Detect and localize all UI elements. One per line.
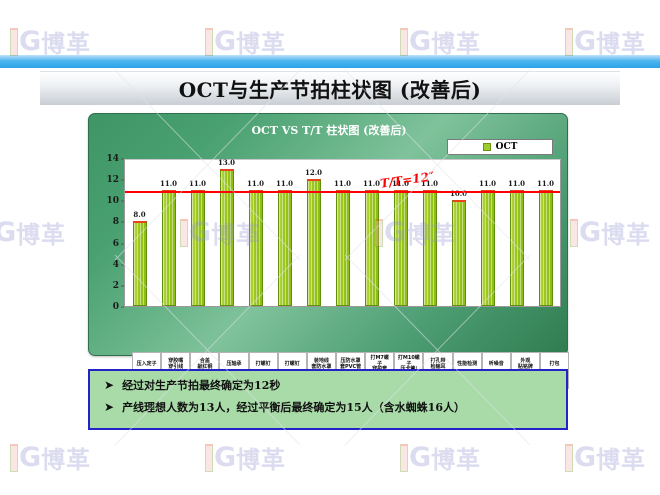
bar-value-label: 11.0: [189, 179, 206, 188]
bar[interactable]: [365, 190, 379, 306]
watermark-logo: G 博革: [10, 440, 91, 475]
bar-value-label: 8.0: [133, 210, 145, 219]
slide-title-bar: OCT与生产节拍柱状图 (改善后): [40, 71, 620, 105]
bar-value-label: 11.0: [160, 179, 177, 188]
brand-mark-icon: G: [10, 444, 36, 472]
legend-swatch-icon: [483, 143, 491, 151]
bar-value-label: 11.0: [363, 179, 380, 188]
bar-slot[interactable]: 11.0: [183, 160, 212, 306]
brand-mark-icon: G: [570, 219, 596, 247]
bullet-arrow-icon: ➤: [104, 378, 114, 393]
header-background: [0, 0, 660, 55]
plot-wrapper: 02468101214 T/T=12″ 8.011.011.013.011.01…: [97, 159, 561, 347]
brand-mark-icon: G: [0, 219, 11, 247]
bar-value-label: 11.0: [537, 179, 554, 188]
legend-label: OCT: [496, 142, 518, 152]
y-axis-tick-label: 14: [106, 154, 119, 164]
y-axis-tick-label: 12: [106, 175, 119, 185]
y-axis-tick-label: 2: [113, 281, 119, 291]
bar-value-label: 11.0: [508, 179, 525, 188]
bar[interactable]: [162, 190, 176, 306]
note-line: ➤ 经过对生产节拍最终确定为12秒: [104, 378, 566, 393]
bar[interactable]: [510, 190, 524, 306]
bar[interactable]: [452, 200, 466, 306]
bar[interactable]: [220, 169, 234, 306]
bar[interactable]: [249, 190, 263, 306]
tt-reference-line: [125, 191, 560, 193]
watermark-text: 博革: [601, 215, 651, 250]
bar-slot[interactable]: 11.0: [241, 160, 270, 306]
page-title: OCT与生产节拍柱状图 (改善后): [179, 74, 482, 103]
bar-slot[interactable]: 11.0: [328, 160, 357, 306]
watermark-logo: G 博革: [0, 215, 66, 250]
watermark-text: 博革: [596, 440, 646, 475]
watermark-logo: G 博革: [205, 440, 286, 475]
brand-mark-icon: G: [565, 444, 591, 472]
y-axis-tick-label: 0: [113, 302, 119, 312]
watermark-text: 博革: [236, 440, 286, 475]
brand-mark-icon: G: [205, 444, 231, 472]
bar-value-label: 11.0: [479, 179, 496, 188]
bar-value-label: 11.0: [334, 179, 351, 188]
plot-area: T/T=12″ 8.011.011.013.011.011.012.011.01…: [124, 159, 561, 307]
bar[interactable]: [133, 221, 147, 306]
bar[interactable]: [307, 179, 321, 306]
watermark-logo: G 博革: [570, 215, 651, 250]
bar-slot[interactable]: 11.0: [473, 160, 502, 306]
bar[interactable]: [191, 190, 205, 306]
bar-series: 8.011.011.013.011.011.012.011.011.011.01…: [125, 160, 560, 306]
bar[interactable]: [336, 190, 350, 306]
bar[interactable]: [481, 190, 495, 306]
bar[interactable]: [539, 190, 553, 306]
y-axis-tick-label: 8: [113, 217, 119, 227]
slide-canvas: G 博革 G 博革 G 博革 G 博革 G 博革 G 博革 G: [0, 0, 660, 495]
bar[interactable]: [423, 190, 437, 306]
note-text: 经过对生产节拍最终确定为12秒: [122, 378, 280, 393]
chart-legend: OCT: [447, 139, 553, 155]
brand-mark-icon: G: [400, 444, 426, 472]
bar-slot[interactable]: 8.0: [125, 160, 154, 306]
bar[interactable]: [278, 190, 292, 306]
bar-slot[interactable]: 12.0: [299, 160, 328, 306]
watermark-logo: G 博革: [565, 440, 646, 475]
bar-slot[interactable]: 13.0: [212, 160, 241, 306]
bar-slot[interactable]: 11.0: [154, 160, 183, 306]
header-blue-band: [0, 55, 660, 68]
bar-value-label: 12.0: [305, 168, 322, 177]
bar-slot[interactable]: 11.0: [502, 160, 531, 306]
bar-value-label: 11.0: [276, 179, 293, 188]
y-axis: 02468101214: [97, 159, 123, 307]
bar-value-label: 13.0: [218, 158, 235, 167]
y-axis-tick-label: 6: [113, 239, 119, 249]
bar-slot[interactable]: 10.0: [444, 160, 473, 306]
bar-slot[interactable]: 11.0: [270, 160, 299, 306]
watermark-text: 博革: [16, 215, 66, 250]
chart-panel: OCT VS T/T 柱状图 (改善后) OCT 02468101214 T/T…: [88, 113, 568, 356]
y-axis-tick-label: 4: [113, 260, 119, 270]
bullet-arrow-icon: ➤: [104, 400, 114, 415]
bar[interactable]: [394, 190, 408, 306]
bar-value-label: 11.0: [247, 179, 264, 188]
watermark-logo: G 博革: [400, 440, 481, 475]
bar-slot[interactable]: 11.0: [531, 160, 560, 306]
note-line: ➤ 产线理想人数为13人，经过平衡后最终确定为15人（含水蜘蛛16人）: [104, 400, 566, 415]
conclusion-box: ➤ 经过对生产节拍最终确定为12秒 ➤ 产线理想人数为13人，经过平衡后最终确定…: [88, 369, 568, 430]
watermark-text: 博革: [431, 440, 481, 475]
note-text: 产线理想人数为13人，经过平衡后最终确定为15人（含水蜘蛛16人）: [122, 400, 465, 415]
y-axis-tick-label: 10: [106, 196, 119, 206]
watermark-text: 博革: [41, 440, 91, 475]
chart-title: OCT VS T/T 柱状图 (改善后): [89, 122, 569, 138]
